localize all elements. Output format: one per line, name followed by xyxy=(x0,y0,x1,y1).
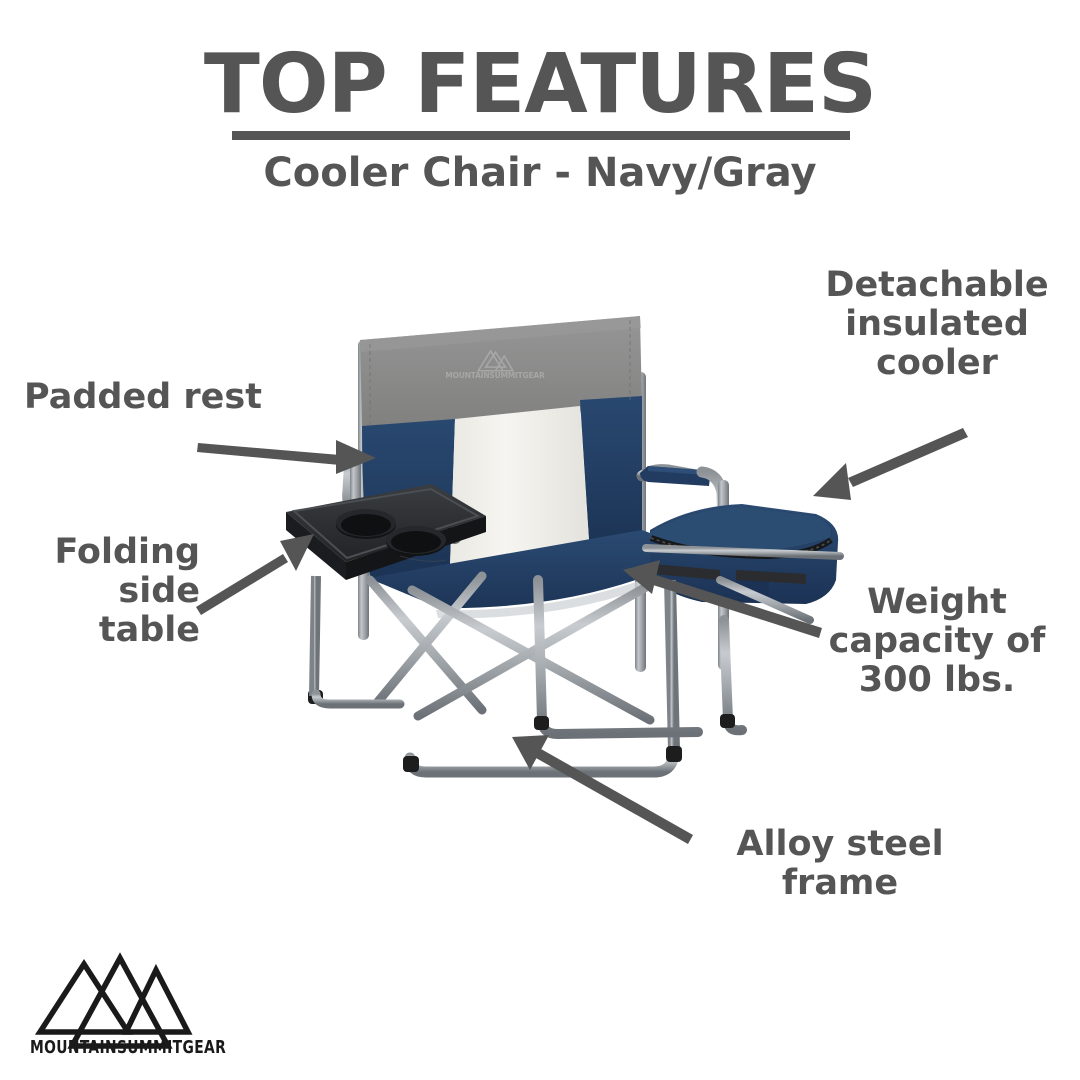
arrow-frame xyxy=(512,735,693,844)
arrow-weight xyxy=(623,560,822,638)
callout-arrows xyxy=(0,0,1080,1080)
brand-name: MOUNTAINSUMMITGEAR xyxy=(30,1038,206,1058)
infographic-canvas: TOP FEATURES Cooler Chair - Navy/Gray xyxy=(0,0,1080,1080)
arrow-folding-table xyxy=(196,534,314,615)
arrow-padded-rest xyxy=(197,440,376,474)
arrow-cooler xyxy=(813,428,968,500)
